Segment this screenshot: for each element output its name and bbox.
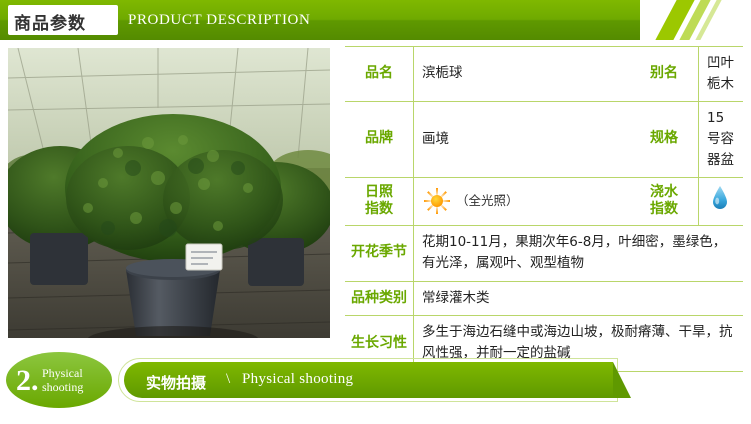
row-label-name: 品名 [345,47,413,101]
table-row: 品名 滨栀球 别名 凹叶栀木 [345,46,743,102]
table-row: 品牌 画境 规格 15号容器盆 [345,102,743,178]
row-label-sun-index: 日照指数 [345,178,413,225]
row-label-spec: 规格 [630,102,698,177]
footer-title-cn: 实物拍摄 [146,372,206,393]
row-value-water-index [698,178,743,225]
row-label-water-index: 浇水指数 [630,178,698,225]
sun-icon [424,188,450,214]
section-number-caption-line1: Physical [42,366,83,381]
sun-label-line1: 日照 [365,184,393,200]
header-stripe-decoration [640,0,751,40]
product-photo-image [8,48,330,338]
row-value-variety-type: 常绿灌木类 [413,282,743,315]
row-value-spec: 15号容器盆 [698,102,743,177]
row-label-variety-type: 品种类别 [345,282,413,315]
section-footer: 2. Physical shooting 实物拍摄 \ Physical sho… [0,352,751,410]
row-value-alias: 凹叶栀木 [698,47,743,101]
footer-title-en: Physical shooting [242,371,353,388]
row-value-name: 滨栀球 [413,47,630,101]
page-header: 商品参数 PRODUCT DESCRIPTION [0,0,751,40]
section-number-caption-line2: shooting [42,380,83,395]
product-photo [8,48,330,338]
row-label-alias: 别名 [630,47,698,101]
row-label-flowering-season: 开花季节 [345,226,413,281]
page-title: 商品参数 [14,9,86,34]
row-value-brand: 画境 [413,102,630,177]
table-row: 日照指数 （全光照） 浇水指数 [345,178,743,226]
sun-label-line2: 指数 [365,201,393,217]
water-label-line1: 浇水 [650,184,678,200]
spec-table: 品名 滨栀球 别名 凹叶栀木 品牌 画境 规格 15号容器盆 日照指数 （全光照… [345,46,743,372]
row-value-sun-index: （全光照） [413,178,630,225]
sun-index-text: （全光照） [456,191,519,210]
row-value-flowering-season: 花期10-11月，果期次年6-8月，叶细密，墨绿色，有光泽，属观叶、观型植物 [413,226,743,281]
row-label-brand: 品牌 [345,102,413,177]
table-row: 开花季节 花期10-11月，果期次年6-8月，叶细密，墨绿色，有光泽，属观叶、观… [345,226,743,282]
table-row: 品种类别 常绿灌木类 [345,282,743,316]
water-label-line2: 指数 [650,201,678,217]
page-subtitle: PRODUCT DESCRIPTION [128,12,310,29]
section-number: 2. [16,364,39,398]
water-drop-icon [711,185,729,218]
footer-separator: \ [226,371,230,388]
